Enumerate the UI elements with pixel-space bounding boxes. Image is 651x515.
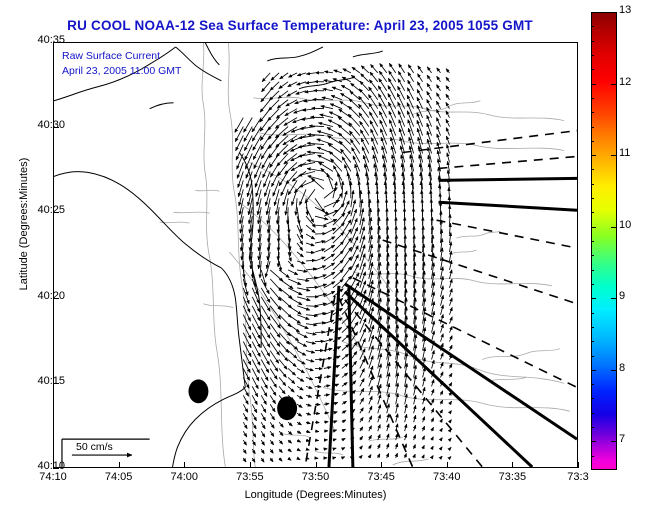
current-vector (270, 431, 274, 436)
colorbar-tick-label: 7 (619, 433, 625, 445)
current-vector (342, 457, 345, 458)
current-vector (297, 368, 304, 372)
current-vector (243, 395, 248, 404)
current-vector (315, 216, 328, 219)
current-vector (324, 413, 329, 414)
current-vector (423, 417, 425, 423)
current-vector (315, 323, 325, 324)
current-vector (423, 368, 425, 378)
current-vector (306, 342, 315, 344)
colorbar-minor-tick (591, 69, 594, 70)
current-vector (432, 389, 434, 395)
current-vector (298, 162, 315, 165)
current-vector (437, 109, 441, 117)
current-vector (351, 264, 359, 279)
current-vector (441, 456, 443, 458)
current-vector (432, 408, 434, 413)
current-vector (417, 120, 422, 135)
current-vector (423, 387, 425, 395)
current-vector (341, 149, 351, 162)
current-vector (399, 64, 405, 73)
current-vector (315, 241, 325, 243)
current-vector (449, 289, 452, 297)
current-vector (449, 411, 451, 414)
current-vector (390, 128, 396, 144)
current-vector (333, 412, 337, 413)
current-vector (325, 71, 333, 72)
current-vector (359, 181, 360, 198)
current-vector (261, 91, 270, 102)
annotation-line-1: Raw Surface Current (62, 49, 181, 64)
current-vector (288, 386, 294, 392)
current-vector (306, 360, 314, 362)
current-vector (252, 413, 256, 420)
current-vector (361, 66, 368, 73)
current-vector (360, 379, 364, 387)
current-vector (261, 324, 270, 339)
current-vector (309, 126, 324, 127)
current-vector (360, 130, 368, 145)
current-vector (243, 422, 247, 428)
current-vector (428, 147, 432, 162)
current-vector (297, 449, 300, 451)
current-vector (235, 118, 243, 133)
current-vector (306, 252, 314, 253)
current-vector (333, 430, 337, 431)
colorbar-minor-tick (591, 255, 594, 256)
current-vector (449, 373, 451, 377)
current-vector (252, 377, 258, 388)
current-vector (243, 324, 251, 339)
current-vector (371, 64, 378, 72)
current-vector (360, 245, 365, 261)
current-vector (389, 63, 395, 72)
current-vector (360, 455, 362, 458)
current-vector (342, 438, 345, 440)
y-tick-mark (53, 298, 59, 299)
colorbar-tick-mark (591, 155, 596, 156)
current-vector (389, 111, 396, 127)
current-vector (414, 395, 416, 404)
current-vector (243, 306, 250, 321)
current-vector (252, 342, 260, 357)
current-vector (408, 65, 413, 73)
current-vector (243, 333, 251, 348)
current-vector (378, 405, 381, 414)
current-vector (252, 386, 257, 396)
current-vector (441, 334, 444, 342)
current-vector (270, 440, 273, 445)
current-vector (437, 118, 441, 127)
surface-current-vectors (235, 63, 452, 462)
current-vector (441, 438, 443, 440)
current-vector (360, 446, 363, 449)
current-vector (418, 66, 423, 73)
current-vector (387, 404, 389, 413)
current-vector (261, 431, 265, 437)
colorbar-tick-mark (611, 370, 616, 371)
current-vector (378, 425, 380, 432)
current-vector (360, 359, 365, 369)
current-vector (447, 162, 449, 172)
current-vector (368, 95, 377, 109)
current-vector (378, 454, 380, 458)
x-tick-label: 73:35 (482, 471, 542, 483)
current-vector (297, 324, 308, 329)
current-vector (446, 69, 449, 73)
current-vector (387, 424, 389, 431)
colorbar-minor-tick (591, 198, 594, 199)
current-vector (414, 415, 416, 422)
current-vector (319, 162, 333, 171)
current-vector (339, 109, 351, 117)
current-vector (436, 101, 440, 108)
colorbar-tick-mark (591, 227, 596, 228)
colorbar-minor-tick (591, 327, 594, 328)
current-vector (380, 120, 387, 136)
current-vector (405, 404, 407, 413)
colorbar-tick-label: 9 (619, 290, 625, 302)
current-vector (379, 103, 387, 118)
current-vector (252, 306, 260, 321)
current-vector (378, 395, 381, 405)
map-plot-area: Raw Surface Current April 23, 2005 11:00… (53, 42, 578, 468)
colorbar-minor-tick (591, 169, 594, 170)
current-vector (370, 72, 378, 82)
current-vector (297, 297, 310, 301)
current-vector (297, 279, 309, 281)
colorbar-minor-tick (591, 313, 594, 314)
y-tick-mark (53, 212, 59, 213)
current-vector (398, 111, 404, 127)
current-vector (261, 440, 264, 445)
current-vector (432, 437, 434, 440)
current-vector (378, 415, 381, 422)
current-vector (361, 74, 369, 82)
current-vector (449, 214, 450, 225)
current-vector (270, 386, 276, 395)
current-vector (333, 242, 344, 252)
current-vector (449, 383, 451, 387)
current-vector (449, 364, 451, 368)
current-vector (350, 131, 360, 145)
current-vector (297, 413, 302, 416)
current-vector (279, 449, 282, 452)
current-vector (279, 368, 286, 377)
x-tick-mark (512, 462, 513, 468)
current-vector (398, 71, 404, 81)
current-vector (306, 225, 315, 233)
annotation-line-2: April 23, 2005 11:00 GMT (62, 64, 181, 79)
current-vector (432, 418, 434, 422)
current-vector (261, 458, 264, 462)
current-vector (324, 339, 333, 341)
current-vector (306, 386, 312, 388)
current-vector (279, 288, 292, 299)
current-vector (270, 422, 274, 428)
current-vector (244, 118, 253, 133)
x-tick-label: 73:40 (417, 471, 477, 483)
current-vector (342, 364, 348, 369)
colorbar-tick-mark (611, 84, 616, 85)
current-vector (324, 219, 337, 225)
current-vector (306, 82, 315, 83)
current-vector (291, 127, 306, 132)
current-vector (441, 400, 443, 404)
station-markers (188, 379, 297, 420)
current-vector (288, 351, 297, 359)
current-vector (243, 440, 246, 445)
current-vector (343, 69, 351, 73)
current-vector (297, 351, 306, 356)
colorbar-tick-mark (591, 84, 596, 85)
current-vector (299, 136, 315, 139)
current-vector (399, 120, 405, 136)
current-vector (297, 440, 301, 442)
current-vector (261, 413, 265, 420)
x-tick-label: 73:50 (286, 471, 346, 483)
current-vector (432, 427, 434, 431)
current-vector (446, 119, 449, 126)
current-vector (418, 74, 423, 82)
current-vector (324, 263, 335, 270)
current-vector (288, 360, 296, 367)
current-vector (381, 129, 387, 145)
current-vector (299, 180, 315, 187)
current-vector (261, 386, 267, 396)
colorbar-minor-tick (591, 241, 594, 242)
x-tick-mark (381, 462, 382, 468)
current-vector (447, 153, 449, 162)
current-vector (279, 422, 283, 427)
current-vector (408, 120, 414, 136)
page-title: RU COOL NOAA-12 Sea Surface Temperature:… (0, 18, 600, 33)
current-vector (342, 354, 349, 359)
current-vector (333, 439, 336, 440)
current-vector (369, 445, 371, 449)
colorbar-tick-mark (611, 155, 616, 156)
colorbar-minor-tick (591, 212, 594, 213)
current-vector (288, 342, 298, 350)
current-vector (441, 324, 444, 332)
current-vector (345, 165, 351, 181)
current-vector (378, 325, 381, 342)
current-vector (427, 83, 431, 90)
current-vector (292, 189, 297, 205)
y-tick-mark (53, 127, 59, 128)
current-vector (270, 449, 273, 453)
current-vector (360, 227, 364, 243)
current-vector (297, 82, 306, 85)
current-vector (437, 85, 441, 91)
current-vector (306, 216, 315, 227)
current-vector (351, 75, 359, 81)
current-vector (396, 453, 398, 458)
current-vector (291, 162, 306, 170)
current-vector (447, 145, 450, 154)
current-vector (446, 128, 449, 136)
current-vector (311, 117, 324, 118)
current-vector (261, 395, 266, 404)
current-vector (351, 237, 358, 252)
current-vector (379, 111, 386, 126)
current-vector (306, 449, 309, 450)
current-vector (405, 394, 407, 404)
current-vector (333, 448, 336, 449)
current-vector (414, 405, 416, 413)
current-vector (270, 413, 274, 420)
colorbar-tick-label: 8 (619, 362, 625, 374)
current-vector (270, 404, 275, 411)
current-vector (280, 73, 288, 79)
colorbar-minor-tick (591, 284, 594, 285)
colorbar-tick-mark (591, 12, 596, 13)
current-vector (378, 94, 386, 109)
current-vector (417, 90, 422, 100)
current-vector (252, 395, 257, 404)
current-vector (324, 237, 335, 243)
current-vector (252, 118, 261, 132)
current-vector (297, 288, 310, 291)
current-vector (449, 438, 451, 440)
current-vector (405, 414, 407, 422)
current-vector (360, 427, 363, 431)
current-vector (449, 326, 452, 332)
current-vector (262, 73, 270, 82)
current-vector (369, 416, 372, 422)
y-tick-label: 40:30 (21, 119, 65, 131)
current-vector (379, 71, 386, 82)
current-vector (279, 270, 289, 278)
y-tick-label: 40:35 (21, 34, 65, 46)
current-vector (400, 137, 405, 153)
current-vector (324, 245, 335, 252)
current-vector (299, 171, 315, 175)
current-vector (441, 372, 443, 378)
current-vector (449, 307, 452, 314)
current-vector (288, 306, 301, 314)
colorbar-tick-mark (591, 298, 596, 299)
current-vector (449, 401, 451, 404)
current-vector (306, 368, 313, 370)
current-vector (306, 260, 315, 261)
current-vector (289, 73, 297, 77)
current-vector (371, 129, 378, 144)
current-vector (270, 368, 277, 379)
scale-legend-label: 50 cm/s (76, 441, 113, 453)
current-vector (306, 73, 315, 74)
current-vector (329, 151, 342, 162)
current-vector (441, 391, 443, 395)
current-vector (270, 82, 279, 90)
current-vector (441, 295, 444, 305)
current-vector (396, 444, 398, 450)
current-vector (446, 94, 449, 100)
current-vector (441, 419, 443, 422)
current-vector (449, 242, 451, 252)
current-vector (332, 87, 342, 91)
current-vector (387, 414, 389, 422)
current-vector (423, 397, 425, 404)
current-vector (407, 111, 413, 127)
current-vector (399, 128, 404, 144)
current-vector (437, 68, 441, 73)
x-tick-label: 74:00 (154, 471, 214, 483)
colorbar-tick-mark (591, 370, 596, 371)
current-vector (308, 176, 324, 180)
x-tick-label: 73:45 (351, 471, 411, 483)
colorbar-tick-label: 13 (619, 4, 631, 16)
colorbar-tick-mark (611, 441, 616, 442)
current-vector (362, 147, 369, 163)
current-vector (427, 67, 431, 73)
current-vector (297, 342, 307, 347)
y-tick-label: 40:25 (21, 204, 65, 216)
current-vector (307, 152, 324, 154)
current-vector (324, 367, 331, 368)
current-vector (297, 73, 306, 76)
current-vector (297, 377, 304, 381)
current-vector (324, 320, 334, 323)
colorbar-tick-mark (611, 227, 616, 228)
current-vector (279, 360, 287, 370)
current-vector (342, 401, 347, 404)
current-vector (360, 263, 365, 279)
colorbar-tick-label: 12 (619, 76, 631, 88)
current-vector (360, 436, 363, 440)
map-canvas (54, 43, 577, 467)
current-vector (381, 137, 386, 153)
current-vector (297, 333, 307, 338)
current-vector (288, 422, 292, 426)
current-vector (370, 121, 378, 136)
current-vector (441, 410, 443, 414)
current-vector (292, 171, 306, 181)
current-vector (423, 455, 425, 458)
current-vector (432, 446, 434, 449)
current-vector (333, 260, 343, 270)
station-marker (277, 396, 297, 420)
current-vector (324, 385, 330, 386)
colorbar-tick-mark (611, 298, 616, 299)
current-vector (297, 404, 302, 407)
current-vector (308, 134, 324, 135)
current-vector (369, 406, 372, 413)
current-vector (360, 398, 364, 404)
current-vector (360, 254, 365, 270)
current-vector (277, 100, 288, 108)
colorbar-minor-tick (591, 41, 594, 42)
current-vector (243, 342, 251, 357)
current-vector (351, 218, 357, 234)
current-vector (449, 270, 451, 279)
x-tick-label: 74:05 (89, 471, 149, 483)
current-vector (261, 306, 270, 320)
colorbar-minor-tick (591, 98, 594, 99)
colorbar-minor-tick (591, 55, 594, 56)
current-vector (288, 449, 291, 452)
current-vector (432, 456, 434, 458)
current-vector (270, 458, 273, 462)
current-vector (288, 431, 292, 434)
current-vector (441, 428, 443, 431)
current-vector (352, 148, 360, 163)
current-vector (333, 421, 337, 422)
current-vector (449, 420, 451, 422)
current-vector (333, 457, 336, 458)
current-vector (315, 249, 325, 252)
current-vector (243, 449, 246, 453)
